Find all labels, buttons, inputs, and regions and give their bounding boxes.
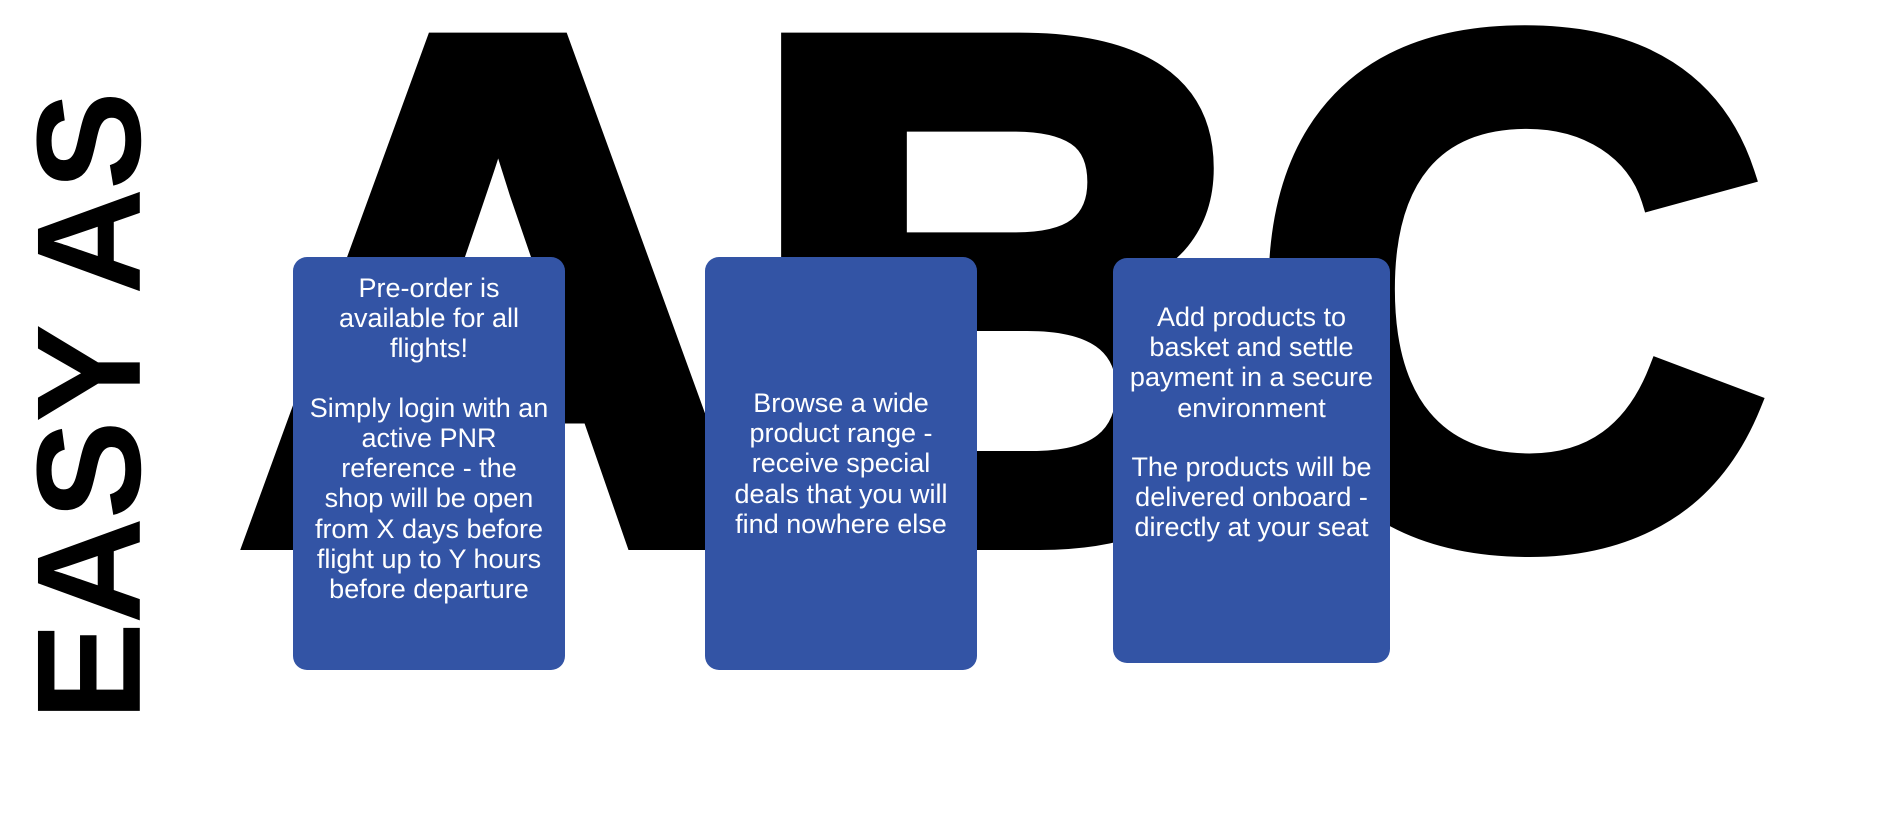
info-card-c-spacer — [1129, 423, 1374, 452]
easy-as-heading-wrapper: EASY AS — [0, 0, 180, 814]
easy-as-heading: EASY AS — [16, 93, 164, 721]
info-card-a-paragraph-2: Simply login with an active PNR referenc… — [309, 393, 549, 605]
info-card-b[interactable]: Browse a wide product range - receive sp… — [705, 257, 977, 670]
info-card-a-paragraph-1: Pre-order is available for all flights! — [309, 273, 549, 364]
info-card-c-paragraph-1: Add products to basket and settle paymen… — [1129, 302, 1374, 423]
info-card-a-spacer — [309, 364, 549, 393]
info-card-b-paragraph-1: Browse a wide product range - receive sp… — [721, 388, 961, 539]
info-card-c[interactable]: Add products to basket and settle paymen… — [1113, 258, 1390, 663]
slide-canvas: EASY AS ABC Pre-order is available for a… — [0, 0, 1878, 814]
info-card-c-paragraph-2: The products will be delivered onboard -… — [1129, 452, 1374, 543]
info-card-a[interactable]: Pre-order is available for all flights! … — [293, 257, 565, 670]
